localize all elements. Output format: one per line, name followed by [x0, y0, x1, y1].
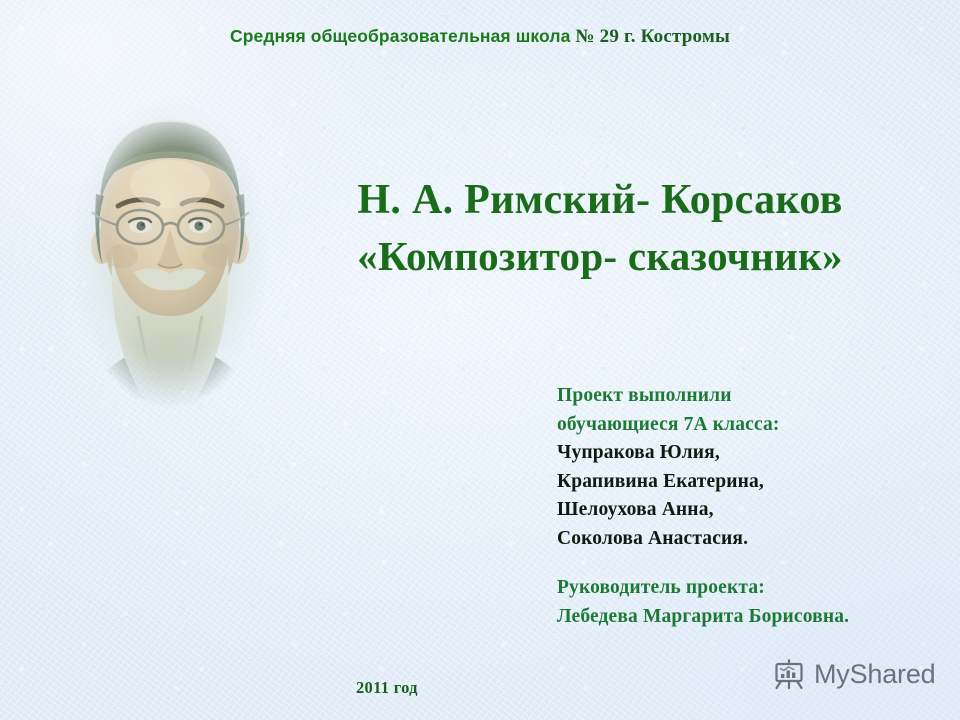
myshared-watermark: MyShared — [772, 657, 935, 691]
school-header: Средняя общеобразовательная школа № 29 г… — [0, 27, 960, 46]
credits-spacer — [557, 553, 947, 574]
myshared-watermark-text: MyShared — [814, 661, 935, 688]
credits-line-class: обучающиеся 7А класса: — [557, 411, 947, 440]
credits-student-2: Крапивина Екатерина, — [557, 468, 947, 497]
school-header-sans: Средняя общеобразовательная школа — [230, 26, 570, 46]
presentation-board-icon — [772, 657, 806, 691]
credits-student-3: Шелоухова Анна, — [557, 496, 947, 525]
title-line-1: Н. А. Римский- Корсаков — [248, 172, 952, 229]
school-header-serif: 29 г. Костромы — [595, 26, 730, 47]
slide-year: 2011 год — [356, 678, 418, 698]
presentation-slide: Средняя общеобразовательная школа № 29 г… — [0, 0, 960, 720]
credits-student-1: Чупракова Юлия, — [557, 439, 947, 468]
credits-line-supervisor-label: Руководитель проекта: — [557, 574, 947, 603]
credits-student-4: Соколова Анастасия. — [557, 525, 947, 554]
credits-line-prepared-by: Проект выполнили — [557, 382, 947, 411]
title-line-2: «Композитор- сказочник» — [248, 229, 952, 284]
credits-line-supervisor-name: Лебедева Маргарита Борисовна. — [557, 603, 947, 632]
credits-block: Проект выполнили обучающиеся 7А класса: … — [557, 382, 947, 631]
school-header-number-sign: № — [575, 26, 594, 47]
slide-title: Н. А. Римский- Корсаков «Композитор- ска… — [248, 172, 952, 284]
